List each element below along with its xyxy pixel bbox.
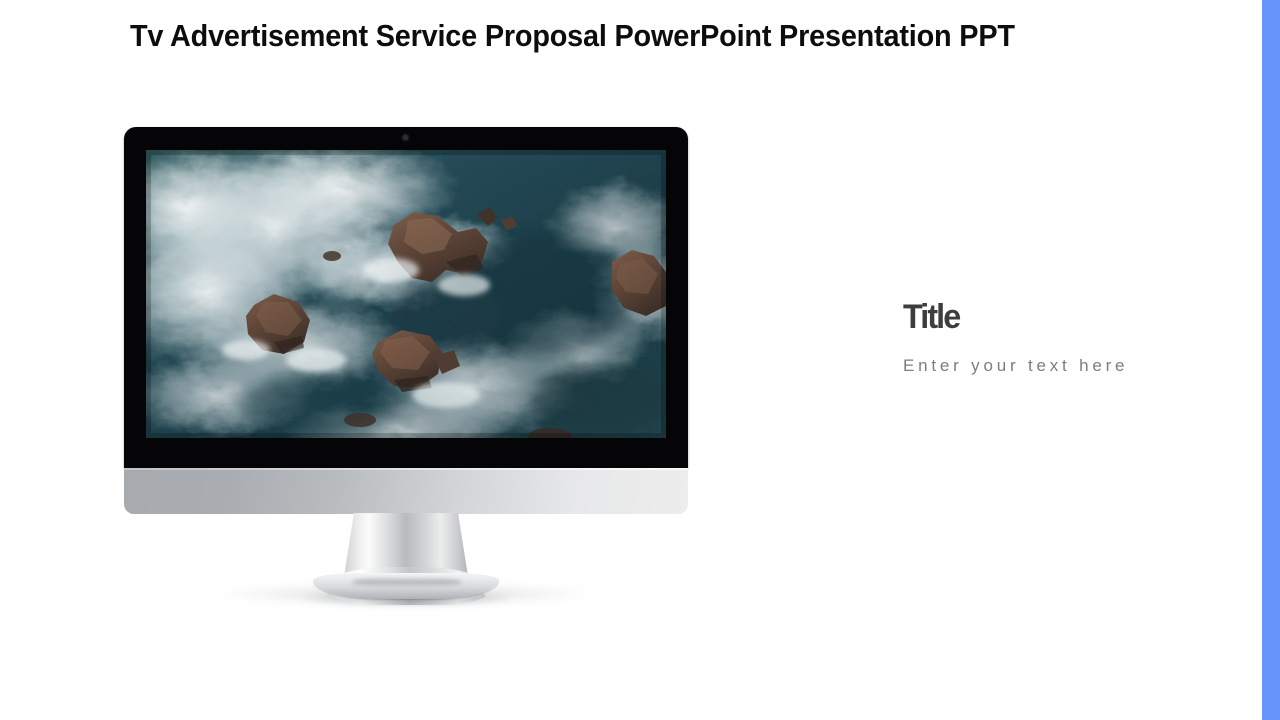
desktop-monitor-mockup <box>124 127 688 597</box>
content-text-block: Title Enter your text here <box>903 300 1233 376</box>
content-title: Title <box>903 300 1217 336</box>
page-title: Tv Advertisement Service Proposal PowerP… <box>130 18 1116 54</box>
ocean-aerial-photo <box>146 150 666 438</box>
content-subtitle-placeholder[interactable]: Enter your text here <box>903 356 1233 376</box>
webcam-icon <box>403 135 408 140</box>
monitor-bezel <box>124 127 688 468</box>
monitor-screen[interactable] <box>146 150 666 438</box>
monitor-base-reflection <box>352 577 462 587</box>
right-accent-bar <box>1262 0 1280 720</box>
chin-highlight <box>124 468 688 470</box>
monitor-chin <box>124 468 688 514</box>
